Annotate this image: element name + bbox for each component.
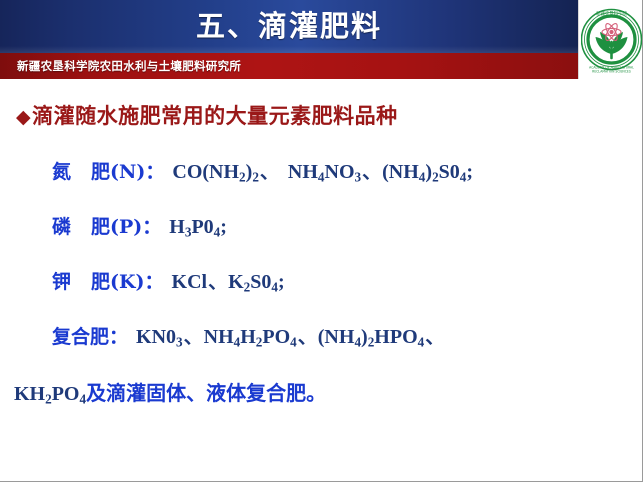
section-heading: ◆滴灌随水施肥常用的大量元素肥料品种: [16, 100, 398, 130]
nutrient-suffix-potassium: 肥(K)：: [91, 271, 164, 293]
fertilizer-line-compound: 复合肥：KN03、NH4H2PO4、(NH4)2HPO4、: [52, 322, 445, 351]
formula-separator: 、: [297, 326, 318, 348]
formula-separator: 、: [183, 326, 204, 348]
svg-text:新疆农垦科学院: 新疆农垦科学院: [596, 10, 627, 17]
formula-phosphoric-acid: H3P04;: [169, 216, 227, 238]
fertilizer-line-nitrogen: 氮肥(N)：CO(NH2)2、NH4NO3、(NH4)2S04;: [52, 157, 473, 186]
fertilizer-line-final: KH2PO4及滴灌固体、液体复合肥。: [14, 377, 326, 408]
nutrient-label-phosphorus: 磷: [52, 216, 71, 238]
nutrient-label-nitrogen: 氮: [52, 161, 71, 183]
fertilizer-line-potassium: 钾肥(K)：KCl、K2S04;: [52, 267, 285, 296]
nutrient-label-compound: 复合肥：: [52, 326, 128, 348]
nutrient-label-potassium: 钾: [52, 271, 71, 293]
svg-text:RECLAMATION SCIENCES: RECLAMATION SCIENCES: [592, 70, 631, 74]
formula-potassium-chloride: KCl: [172, 271, 208, 293]
nutrient-suffix-phosphorus: 肥(P)：: [91, 216, 161, 238]
academy-emblem-icon: 新疆农垦科学院 ACADEMY OF AGRICULTURAL RECLAMAT…: [581, 2, 642, 82]
formula-separator: 、: [424, 326, 445, 348]
formula-separator: 、: [361, 161, 382, 183]
slide-header: 五、滴灌肥料 新疆农垦科学院农田水利与土壤肥料研究所: [0, 0, 643, 79]
final-line-text: 及滴灌固体、液体复合肥。: [86, 381, 326, 405]
fertilizer-line-phosphorus: 磷肥(P)：H3P04;: [52, 212, 227, 241]
formula-potassium-nitrate: KN03: [136, 326, 183, 348]
formula-diammonium-phosphate: (NH4)2HPO4: [318, 326, 424, 348]
organization-name: 新疆农垦科学院农田水利与土壤肥料研究所: [17, 55, 241, 77]
page-title: 五、滴灌肥料: [0, 4, 578, 48]
formula-separator: 、: [207, 271, 228, 293]
formula-urea: CO(NH2)2: [172, 161, 259, 183]
slide-body: ◆滴灌随水施肥常用的大量元素肥料品种 氮肥(N)：CO(NH2)2、NH4NO3…: [0, 79, 643, 482]
formula-separator: 、: [259, 161, 280, 183]
formula-ammonium-sulfate: (NH4)2S04;: [382, 161, 473, 183]
formula-ammonium-nitrate: NH4NO3: [288, 161, 361, 183]
formula-monoammonium-phosphate: NH4H2PO4: [204, 326, 297, 348]
formula-potassium-sulfate: K2S04;: [228, 271, 285, 293]
section-heading-text: 滴灌随水施肥常用的大量元素肥料品种: [32, 103, 398, 128]
diamond-bullet-icon: ◆: [16, 106, 31, 128]
slide-canvas: 五、滴灌肥料 新疆农垦科学院农田水利与土壤肥料研究所 新疆农垦科学院 ACADE…: [0, 0, 643, 482]
formula-monopotassium-phosphate: KH2PO4: [14, 383, 86, 405]
logo-panel: 新疆农垦科学院 ACADEMY OF AGRICULTURAL RECLAMAT…: [578, 0, 643, 79]
nutrient-suffix-nitrogen: 肥(N)：: [91, 161, 164, 183]
